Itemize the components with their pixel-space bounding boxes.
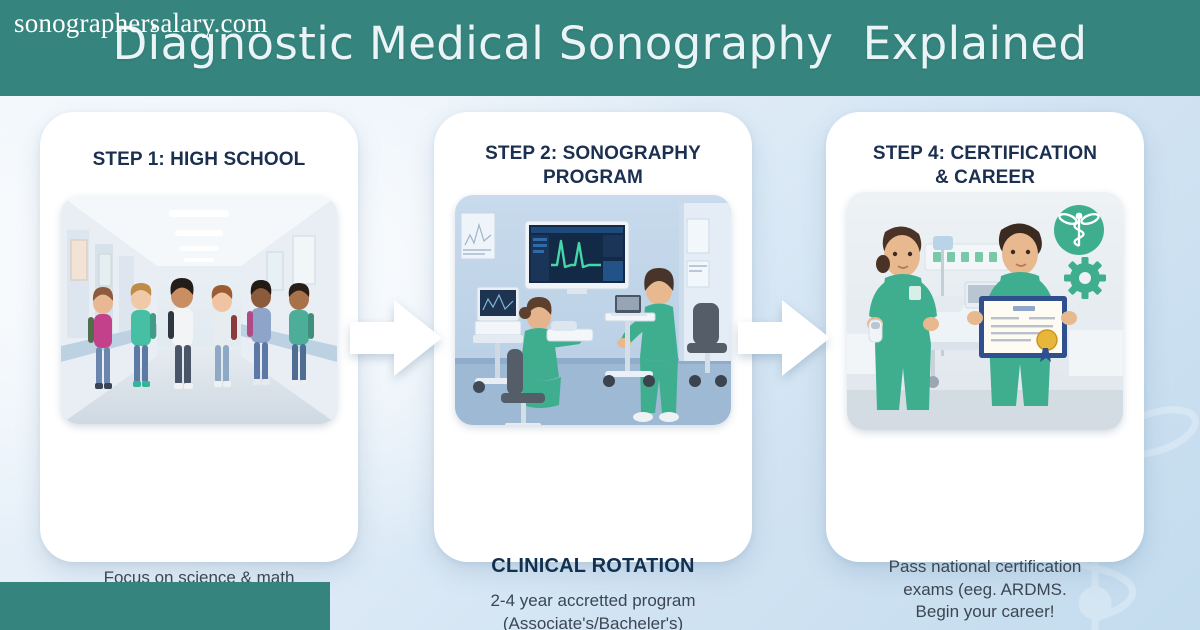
arrow-right-icon-1 [350,292,442,384]
step-card-2-subhead: CLINICAL ROTATION [446,555,740,578]
sonography-lab-photo [455,195,731,425]
infographic-canvas: Diagnostic Medical Sonography Explained … [0,0,1200,630]
footer-watermark-bar [0,582,330,630]
high-school-students-photo [61,196,337,424]
step-card-1-title: STEP 1: HIGH SCHOOL [54,148,344,172]
step-card-2: STEP 2: SONOGRAPHY PROGRAM [434,112,752,562]
certification-career-photo [847,192,1123,430]
site-watermark: sonographersalary.com [14,8,268,39]
step-card-1: STEP 1: HIGH SCHOOL [40,112,358,562]
step-card-2-title: STEP 2: SONOGRAPHY PROGRAM [448,142,738,190]
step-card-3-title: STEP 4: CERTIFICATION & CAREER [840,142,1130,190]
step-card-3: STEP 4: CERTIFICATION & CAREER [826,112,1144,562]
step-card-3-caption: Pass national certification exams (eeg. … [838,556,1132,624]
step-card-2-caption: 2-4 year accretted program (Associate's/… [446,590,740,630]
arrow-right-icon-2 [738,292,830,384]
